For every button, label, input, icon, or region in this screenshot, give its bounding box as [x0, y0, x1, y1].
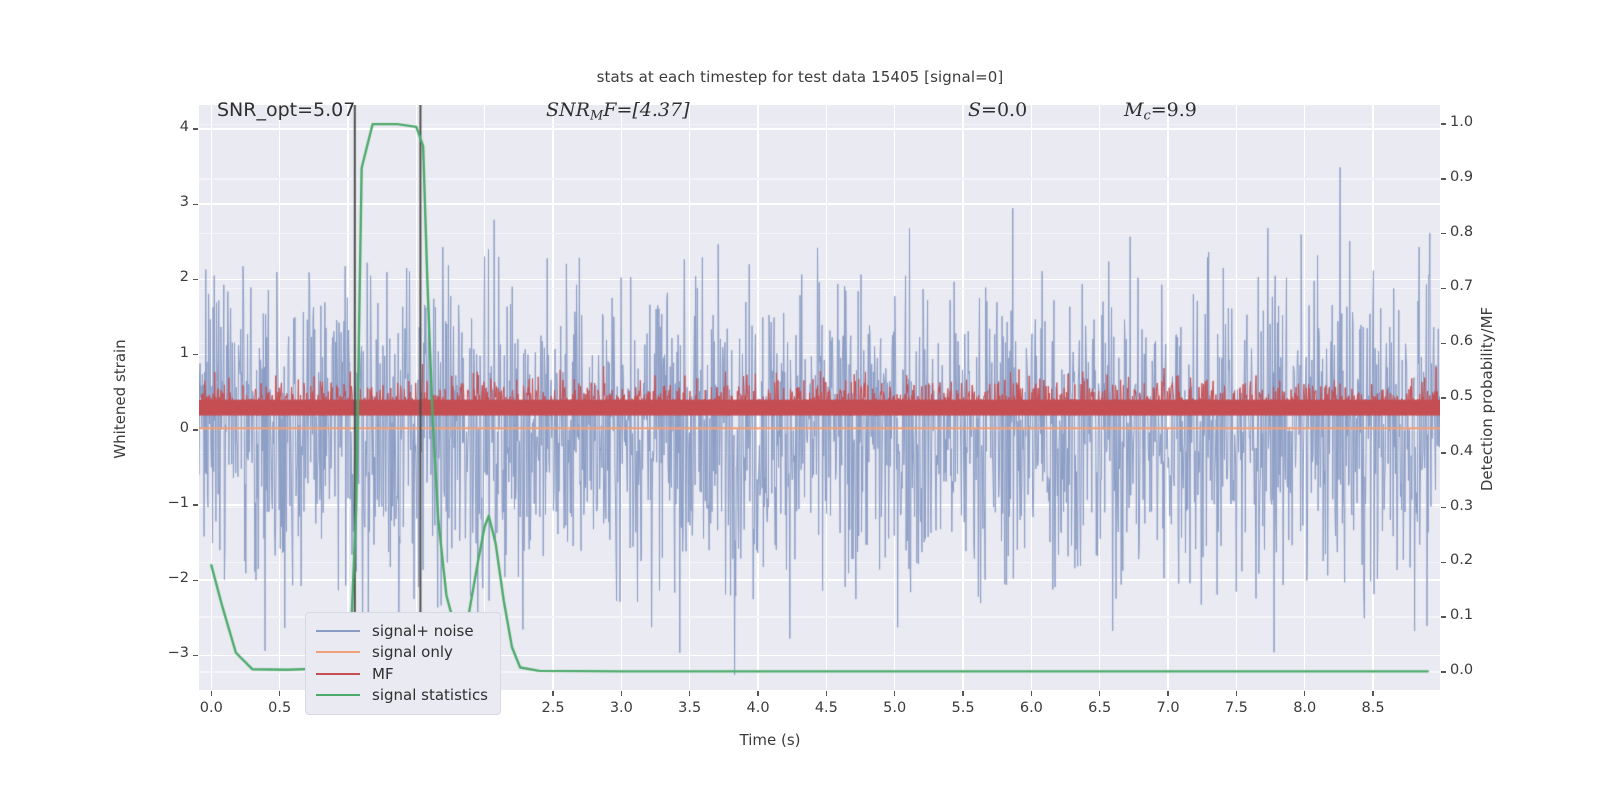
x-tickmark: [1372, 691, 1373, 696]
y-tickmark-right: [1441, 123, 1446, 124]
x-tickmark: [962, 691, 963, 696]
chart-title: stats at each timestep for test data 154…: [0, 68, 1600, 86]
y-tickmark-left: [193, 354, 198, 355]
x-tick-label: 8.0: [1293, 700, 1316, 716]
x-tickmark: [689, 691, 690, 696]
y-tick-label-left: 0: [147, 420, 189, 436]
x-tick-label: 5.5: [952, 700, 975, 716]
y-tickmark-right: [1441, 233, 1446, 234]
legend-label: signal+ noise: [372, 622, 474, 640]
legend-item[interactable]: signal statistics: [316, 685, 488, 707]
y-tick-label-left: 4: [147, 119, 189, 135]
y-tickmark-left: [193, 204, 198, 205]
legend-swatch-icon: [316, 673, 360, 675]
s-label: S: [968, 99, 981, 121]
y-tick-label-right: 0.0: [1450, 662, 1473, 678]
plot-area: [199, 105, 1440, 690]
figure-root: stats at each timestep for test data 154…: [0, 0, 1600, 800]
x-tick-label: 4.0: [746, 700, 769, 716]
annotation-row: SNR_opt=5.07 SNRMF=[4.37] S=0.0 Mc=9.9: [199, 99, 1440, 129]
y-tickmark-right: [1441, 507, 1446, 508]
mc-label: M: [1124, 99, 1143, 121]
x-tickmark: [826, 691, 827, 696]
y-tick-label-right: 0.4: [1450, 443, 1473, 459]
y-tickmark-left: [193, 655, 198, 656]
y-tickmark-left: [193, 580, 198, 581]
x-tick-label: 2.5: [541, 700, 564, 716]
snr-mf-prefix: SNR: [546, 99, 590, 121]
legend[interactable]: signal+ noisesignal onlyMFsignal statist…: [305, 612, 501, 715]
y-tick-label-right: 0.3: [1450, 498, 1473, 514]
y-axis-title-left: Whitened strain: [111, 269, 129, 529]
y-tickmark-right: [1441, 397, 1446, 398]
annotation-snr-opt: SNR_opt=5.07: [217, 99, 355, 121]
y-tickmark-left: [193, 128, 198, 129]
y-tick-label-right: 0.5: [1450, 388, 1473, 404]
y-tick-label-left: 2: [147, 269, 189, 285]
y-tickmark-right: [1441, 288, 1446, 289]
y-tickmark-right: [1441, 452, 1446, 453]
x-tick-label: 7.0: [1157, 700, 1180, 716]
y-tick-label-right: 0.2: [1450, 552, 1473, 568]
x-tick-label: 8.5: [1362, 700, 1385, 716]
x-tickmark: [757, 691, 758, 696]
y-tickmark-left: [193, 504, 198, 505]
legend-item[interactable]: signal+ noise: [316, 620, 488, 642]
mc-subscript: c: [1143, 108, 1150, 123]
legend-swatch-icon: [316, 651, 360, 653]
x-tickmark: [279, 691, 280, 696]
legend-swatch-icon: [316, 630, 360, 632]
x-tick-label: 0.5: [268, 700, 291, 716]
x-tickmark: [211, 691, 212, 696]
y-tickmark-right: [1441, 178, 1446, 179]
x-tick-label: 0.0: [200, 700, 223, 716]
y-tick-label-left: −2: [147, 570, 189, 586]
legend-item[interactable]: signal only: [316, 642, 488, 664]
x-tickmark: [1099, 691, 1100, 696]
y-axis-title-right: Detection probability/MF: [1478, 269, 1496, 529]
y-tick-label-right: 0.8: [1450, 224, 1473, 240]
x-tickmark: [552, 691, 553, 696]
y-tick-label-right: 0.1: [1450, 607, 1473, 623]
legend-label: signal only: [372, 643, 453, 661]
x-axis-title: Time (s): [740, 731, 801, 749]
y-tickmark-right: [1441, 671, 1446, 672]
y-tickmark-left: [193, 279, 198, 280]
x-tick-label: 5.0: [883, 700, 906, 716]
snr-mf-subscript: M: [590, 108, 603, 123]
y-tick-label-left: 3: [147, 194, 189, 210]
x-tickmark: [1167, 691, 1168, 696]
legend-label: signal statistics: [372, 686, 488, 704]
y-tick-label-right: 0.7: [1450, 278, 1473, 294]
x-tick-label: 7.5: [1225, 700, 1248, 716]
y-tickmark-right: [1441, 562, 1446, 563]
annotation-snr-mf: SNRMF=[4.37]: [546, 99, 690, 123]
chart-canvas: [199, 105, 1440, 690]
y-tick-label-right: 0.6: [1450, 333, 1473, 349]
x-tick-label: 3.5: [678, 700, 701, 716]
legend-swatch-icon: [316, 694, 360, 696]
x-tickmark: [1031, 691, 1032, 696]
x-tickmark: [1304, 691, 1305, 696]
x-tickmark: [1236, 691, 1237, 696]
annotation-s: S=0.0: [968, 99, 1027, 121]
x-tickmark: [621, 691, 622, 696]
y-tick-label-right: 1.0: [1450, 114, 1473, 130]
y-tickmark-left: [193, 429, 198, 430]
x-tick-label: 4.5: [815, 700, 838, 716]
y-tickmark-right: [1441, 616, 1446, 617]
y-tick-label-left: −3: [147, 645, 189, 661]
x-tick-label: 6.5: [1088, 700, 1111, 716]
legend-label: MF: [372, 665, 394, 683]
mc-value: =9.9: [1151, 99, 1197, 121]
annotation-mc: Mc=9.9: [1124, 99, 1197, 123]
legend-item[interactable]: MF: [316, 663, 488, 685]
x-tick-label: 3.0: [610, 700, 633, 716]
s-value: =0.0: [981, 99, 1027, 121]
y-tick-label-right: 0.9: [1450, 169, 1473, 185]
y-tick-label-left: −1: [147, 495, 189, 511]
x-tickmark: [894, 691, 895, 696]
x-tick-label: 6.0: [1020, 700, 1043, 716]
y-tick-label-left: 1: [147, 345, 189, 361]
y-tickmark-right: [1441, 343, 1446, 344]
snr-mf-suffix: F=[4.37]: [603, 99, 689, 121]
